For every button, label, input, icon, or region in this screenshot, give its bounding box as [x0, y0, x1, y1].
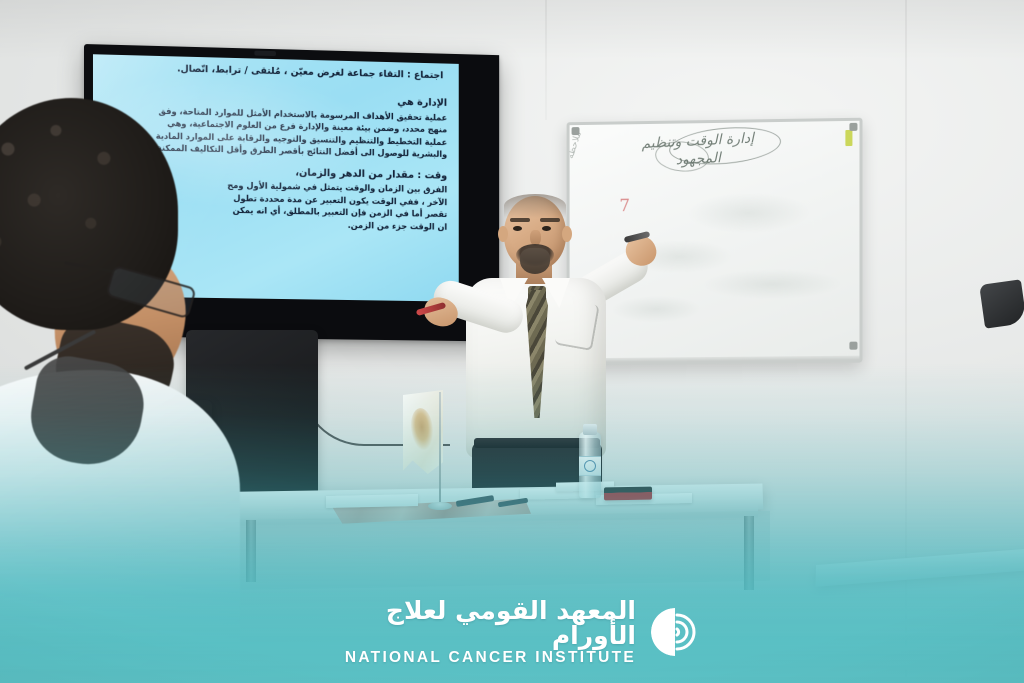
sound-wave-circle-icon	[650, 607, 700, 657]
desk-flag-base	[428, 502, 452, 510]
presenter-ear-left	[498, 226, 508, 242]
sticky-note-icon	[845, 130, 852, 146]
slide-line-0: اجتماع : التقاء جماعة لغرض معيّن ، مُلتق…	[103, 60, 447, 83]
desk-flag-pole	[439, 392, 441, 508]
wall-seam	[545, 0, 547, 120]
tv-camera-icon	[254, 51, 276, 57]
whiteboard-handwriting-line1: إدارة الوقت وتنظيم	[641, 130, 754, 152]
presenter-ear-right	[562, 226, 572, 242]
presenter-beard	[520, 248, 550, 274]
table-leg	[744, 516, 754, 590]
presenter-brow-left	[510, 218, 530, 222]
brand-name-english: NATIONAL CANCER INSTITUTE	[345, 650, 636, 666]
water-bottle-cap	[583, 424, 597, 435]
presenter-brow-right	[540, 218, 560, 222]
photo-canvas: اجتماع : التقاء جماعة لغرض معيّن ، مُلتق…	[0, 0, 1024, 683]
whiteboard-corner-note: ملاحظة	[567, 130, 607, 165]
whiteboard-corner-screw	[849, 342, 857, 350]
foreground-attendee	[0, 98, 260, 598]
wall-seam	[905, 0, 907, 683]
whiteboard-corner-screw	[572, 127, 580, 135]
presenter-eye-left	[513, 226, 522, 231]
water-bottle-logo-icon	[584, 460, 596, 472]
glasses-in-pocket-icon	[554, 299, 599, 351]
red-black-case	[604, 487, 652, 501]
papers	[326, 494, 418, 508]
whiteboard-handwriting: إدارة الوقت وتنظيم المجهود	[623, 130, 774, 172]
table-front-surface	[170, 511, 770, 591]
presenter-eye-right	[542, 226, 551, 231]
brand-logo: المعهد القومي لعلاج الأورام NATIONAL CAN…	[336, 601, 710, 663]
whiteboard-handwriting-line2: المجهود	[675, 150, 721, 168]
brand-name-arabic: المعهد القومي لعلاج الأورام	[336, 598, 636, 648]
brand-logo-text: المعهد القومي لعلاج الأورام NATIONAL CAN…	[336, 598, 636, 666]
presenter-hair	[504, 194, 566, 218]
presenter-figure	[430, 186, 660, 516]
whiteboard-corner-screw	[849, 123, 857, 131]
